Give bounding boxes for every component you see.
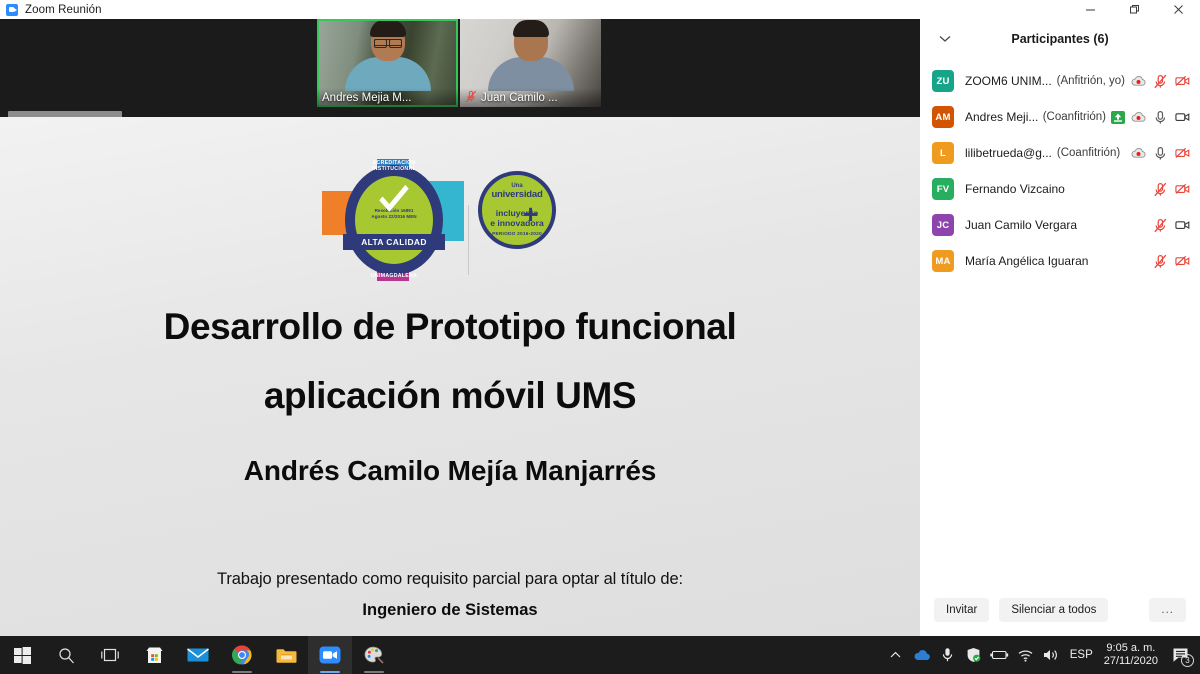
close-button[interactable] [1156, 0, 1200, 19]
invite-button[interactable]: Invitar [934, 598, 989, 622]
chrome-icon[interactable] [220, 636, 264, 674]
participant-status-icons [1147, 218, 1190, 233]
avatar: AM [932, 106, 954, 128]
participant-status-icons [1147, 254, 1190, 269]
participant-row[interactable]: AM Andres Meji... (Coanfitrión) [920, 99, 1200, 135]
slide-author: Andrés Camilo Mejía Manjarrés [0, 455, 900, 487]
slide-degree: Ingeniero de Sistemas [0, 601, 900, 620]
thumbnail-name-bar: Juan Camilo ... [460, 88, 601, 107]
video-off-icon[interactable] [1175, 146, 1190, 161]
windows-taskbar: ESP 9:05 a. m. 27/11/2020 3 [0, 636, 1200, 674]
notification-count: 3 [1181, 654, 1194, 667]
university-line-5: PERIODO 2016-2020 [492, 232, 542, 237]
participant-name: María Angélica Iguaran [965, 254, 1088, 268]
participant-row[interactable]: JC Juan Camilo Vergara [920, 207, 1200, 243]
participant-status-icons [1125, 146, 1190, 161]
more-options-button[interactable]: ... [1149, 598, 1186, 622]
participant-row[interactable]: ZU ZOOM6 UNIM... (Anfitrión, yo) [920, 63, 1200, 99]
zoom-camera-icon [6, 4, 18, 16]
mic-muted-icon [465, 90, 477, 106]
recording-cloud-icon [1131, 74, 1146, 89]
slide-logos: ACREDITACIÓN INSTITUCIONAL Resolución 16… [0, 159, 920, 281]
paint-palette-icon[interactable] [352, 636, 396, 674]
video-thumbnail[interactable]: Juan Camilo ... [460, 19, 601, 107]
screen-share-badge-icon [1111, 111, 1125, 124]
participant-name: Fernando Vizcaino [965, 182, 1065, 196]
hair-shape [370, 20, 406, 37]
participant-name: ZOOM6 UNIM... [965, 74, 1052, 88]
accreditation-logo: ACREDITACIÓN INSTITUCIONAL Resolución 16… [322, 159, 464, 281]
restore-button[interactable] [1112, 0, 1156, 19]
language-indicator[interactable]: ESP [1065, 649, 1102, 661]
avatar: MA [932, 250, 954, 272]
cloud-icon[interactable] [909, 636, 935, 674]
avatar: ZU [932, 70, 954, 92]
mic-on-icon[interactable] [1153, 110, 1168, 125]
battery-icon[interactable] [987, 636, 1013, 674]
participants-panel-title: Participantes (6) [920, 32, 1200, 46]
participants-panel-footer: Invitar Silenciar a todos ... [920, 584, 1200, 636]
clock-time: 9:05 a. m. [1104, 642, 1158, 655]
clock[interactable]: 9:05 a. m. 27/11/2020 [1102, 642, 1166, 668]
search-icon[interactable] [44, 636, 88, 674]
participant-status-icons [1125, 110, 1190, 125]
clock-date: 27/11/2020 [1104, 655, 1158, 668]
shared-screen-slide: ACREDITACIÓN INSTITUCIONAL Resolución 16… [0, 117, 920, 636]
participants-panel-header: Participantes (6) [920, 19, 1200, 59]
microphone-icon[interactable] [935, 636, 961, 674]
recording-cloud-icon [1131, 146, 1146, 161]
checkmark-icon [379, 177, 408, 211]
participant-row[interactable]: L lilibetrueda@g... (Coanfitrión) [920, 135, 1200, 171]
chevron-up-icon[interactable] [883, 636, 909, 674]
speaker-icon[interactable] [1039, 636, 1065, 674]
system-tray: ESP 9:05 a. m. 27/11/2020 3 [883, 636, 1200, 674]
glasses-icon [373, 39, 403, 46]
video-off-icon[interactable] [1175, 182, 1190, 197]
avatar: FV [932, 178, 954, 200]
accreditation-resolution-2: Agosto 22/2016 MEN [371, 214, 416, 220]
participant-name: Juan Camilo Vergara [965, 218, 1077, 232]
mic-muted-icon[interactable] [1153, 218, 1168, 233]
slide-note: Trabajo presentado como requisito parcia… [0, 570, 900, 589]
store-icon[interactable] [132, 636, 176, 674]
participant-row[interactable]: FV Fernando Vizcaino [920, 171, 1200, 207]
zoom-camera-icon[interactable] [308, 636, 352, 674]
recording-cloud-icon [1131, 110, 1146, 125]
avatar: L [932, 142, 954, 164]
thumbnail-name: Juan Camilo ... [481, 92, 558, 104]
task-view-icon[interactable] [88, 636, 132, 674]
participant-name: lilibetrueda@g... [965, 146, 1052, 160]
participants-list: ZU ZOOM6 UNIM... (Anfitrión, yo) [920, 59, 1200, 279]
participant-role: (Anfitrión, yo) [1057, 75, 1125, 87]
logo-divider [468, 205, 469, 275]
thumbnail-name: Andres Mejia M... [322, 92, 411, 104]
participant-video-figure [488, 21, 574, 91]
slide-title-line-2: aplicación móvil UMS [0, 361, 900, 430]
participant-status-icons [1125, 74, 1190, 89]
window-title-bar: Zoom Reunión [0, 0, 1200, 19]
mic-on-icon[interactable] [1153, 146, 1168, 161]
mic-muted-icon[interactable] [1153, 74, 1168, 89]
participant-row[interactable]: MA María Angélica Iguaran [920, 243, 1200, 279]
plus-icon: + [523, 206, 541, 224]
folder-icon[interactable] [264, 636, 308, 674]
thumbnail-name-bar: Andres Mejia M... [317, 88, 458, 107]
avatar: JC [932, 214, 954, 236]
video-thumbnail[interactable]: Andres Mejia M... [317, 19, 458, 107]
accreditation-arc-bottom: UNIMAGDALENA [355, 273, 433, 279]
participant-role: (Coanfitrión) [1043, 111, 1106, 123]
wifi-icon[interactable] [1013, 636, 1039, 674]
slide-title-line-1: Desarrollo de Prototipo funcional [0, 292, 900, 361]
shield-icon[interactable] [961, 636, 987, 674]
mic-muted-icon[interactable] [1153, 182, 1168, 197]
mic-muted-icon[interactable] [1153, 254, 1168, 269]
video-off-icon[interactable] [1175, 254, 1190, 269]
start-button[interactable] [0, 636, 44, 674]
mail-icon[interactable] [176, 636, 220, 674]
accreditation-band: ALTA CALIDAD [343, 234, 445, 250]
participant-video-figure [345, 21, 431, 91]
video-on-icon[interactable] [1175, 110, 1190, 125]
window-title: Zoom Reunión [25, 4, 102, 16]
participant-role: (Coanfitrión) [1057, 147, 1120, 159]
video-thumbnail-strip: Andres Mejia M... Juan [317, 19, 602, 107]
hair-shape [513, 20, 549, 37]
zoom-meeting-stage: Andres Mejia M... Juan [0, 19, 920, 636]
participant-name: Andres Meji... [965, 110, 1038, 124]
accreditation-arc-top: ACREDITACIÓN INSTITUCIONAL [355, 160, 433, 172]
participant-status-icons [1147, 182, 1190, 197]
university-logo: Una universidad incluyente e innovadora … [478, 171, 556, 249]
video-off-icon[interactable] [1175, 74, 1190, 89]
mute-all-button[interactable]: Silenciar a todos [999, 598, 1108, 622]
window-controls [1068, 0, 1200, 19]
notification-icon[interactable]: 3 [1166, 636, 1196, 674]
video-on-icon[interactable] [1175, 218, 1190, 233]
minimize-button[interactable] [1068, 0, 1112, 19]
participants-panel: Participantes (6) ZU ZOOM6 UNIM... (Anfi… [920, 19, 1200, 636]
